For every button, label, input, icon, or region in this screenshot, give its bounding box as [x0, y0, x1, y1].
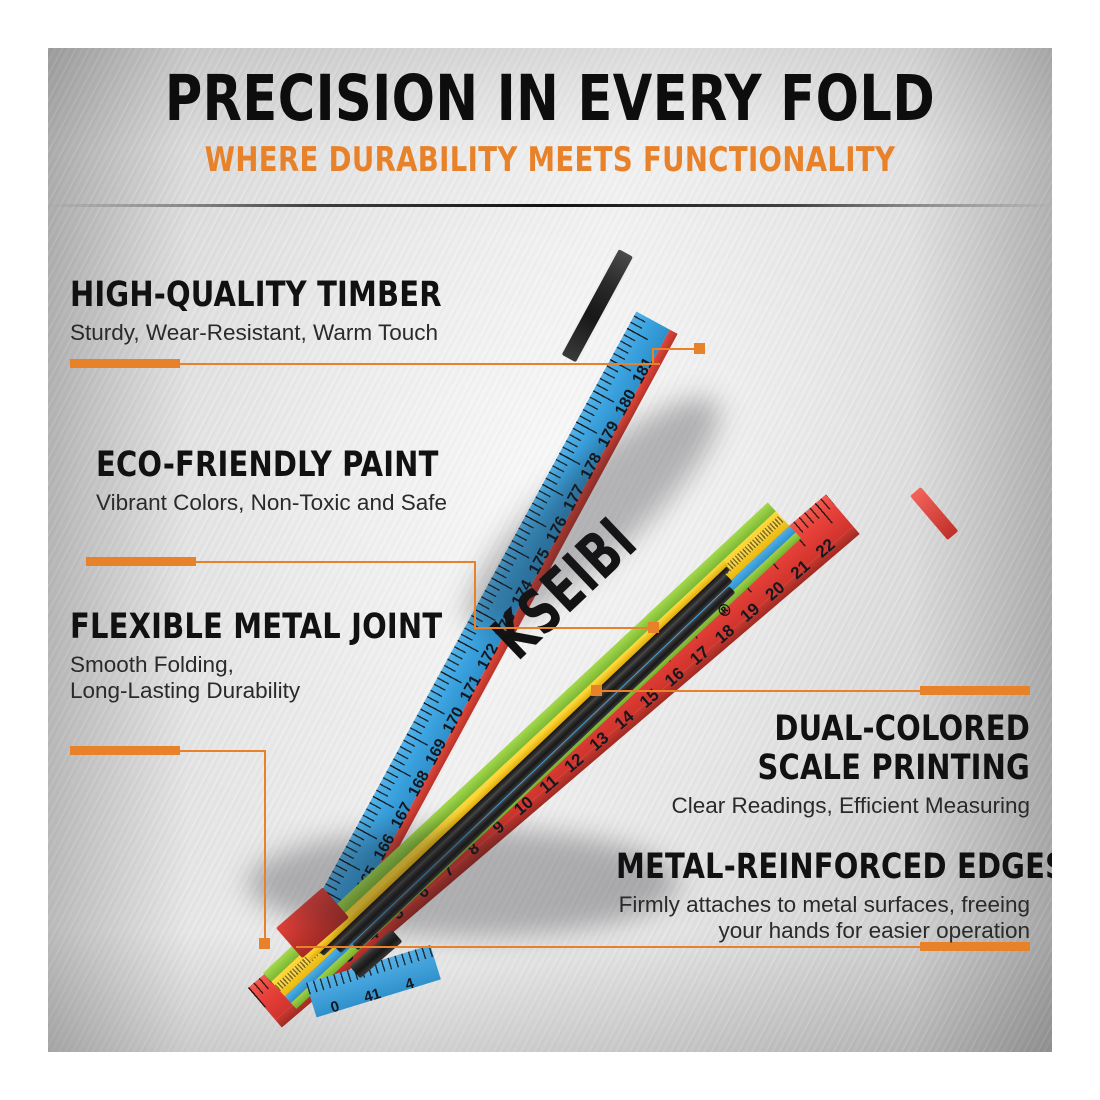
- scale-number: 170: [440, 704, 469, 736]
- feature-title: ECO-FRIENDLY PAINT: [96, 446, 439, 485]
- feature-title: METAL-REINFORCED EDGES: [616, 848, 1030, 887]
- feature-metal-reinforced-edges: METAL-REINFORCED EDGES Firmly attaches t…: [580, 848, 1030, 944]
- infographic-root: 1631641651661671681691701711721731741751…: [0, 0, 1100, 1100]
- scale-number: 172: [474, 641, 503, 673]
- connector-endpoint-paint: [648, 622, 659, 633]
- feature-desc-line1: Smooth Folding,: [70, 652, 475, 678]
- page-title: PRECISION IN EVERY FOLD: [98, 66, 1002, 132]
- feature-dual-colored-scale-printing: DUAL-COLORED SCALE PRINTING Clear Readin…: [610, 710, 1030, 819]
- content-panel: 1631641651661671681691701711721731741751…: [48, 48, 1052, 1052]
- accent-bar-paint: [86, 557, 196, 566]
- scale-number: 168: [405, 768, 434, 800]
- feature-desc: Clear Readings, Efficient Measuring: [610, 793, 1030, 819]
- feature-title: FLEXIBLE METAL JOINT: [70, 608, 442, 647]
- feature-title-line2: SCALE PRINTING: [644, 749, 1030, 788]
- feature-desc: Sturdy, Wear-Resistant, Warm Touch: [70, 320, 474, 346]
- feature-high-quality-timber: HIGH-QUALITY TIMBER Sturdy, Wear-Resista…: [70, 276, 474, 346]
- feature-desc-line2: Long-Lasting Durability: [70, 678, 475, 704]
- scale-number: 169: [423, 736, 452, 768]
- connector-line-paint-b: [474, 627, 654, 629]
- scale-number: 21: [787, 557, 813, 583]
- connector-endpoint-joint: [259, 938, 270, 949]
- scale-number: 4: [403, 975, 416, 995]
- accent-bar-scale: [920, 686, 1030, 695]
- feature-eco-friendly-paint: ECO-FRIENDLY PAINT Vibrant Colors, Non-T…: [96, 446, 468, 516]
- connector-endpoint-scale: [591, 685, 602, 696]
- feature-desc: Vibrant Colors, Non-Toxic and Safe: [96, 490, 468, 516]
- scale-number: 180: [612, 387, 641, 419]
- feature-desc-line1: Firmly attaches to metal surfaces, freei…: [580, 892, 1030, 918]
- feature-flexible-metal-joint: FLEXIBLE METAL JOINT Smooth Folding, Lon…: [70, 608, 475, 704]
- scale-number: 41: [362, 985, 383, 1007]
- ruler-red-arm-tip-cap: [910, 487, 958, 540]
- feature-title-line1: DUAL-COLORED: [644, 710, 1030, 749]
- header-divider: [48, 204, 1052, 207]
- connector-drop-joint: [264, 750, 266, 945]
- feature-desc-line2: your hands for easier operation: [580, 918, 1030, 944]
- connector-endpoint-timber: [694, 343, 705, 354]
- scale-number: 0: [329, 998, 342, 1018]
- header: PRECISION IN EVERY FOLD WHERE DURABILITY…: [48, 48, 1052, 200]
- accent-bar-timber: [70, 359, 180, 368]
- feature-title: HIGH-QUALITY TIMBER: [70, 276, 442, 315]
- scale-number: 22: [813, 536, 839, 562]
- accent-bar-joint: [70, 746, 180, 755]
- scale-number: 167: [388, 800, 417, 832]
- page-subtitle: WHERE DURABILITY MEETS FUNCTIONALITY: [98, 141, 1002, 179]
- connector-drop-timber: [652, 348, 654, 365]
